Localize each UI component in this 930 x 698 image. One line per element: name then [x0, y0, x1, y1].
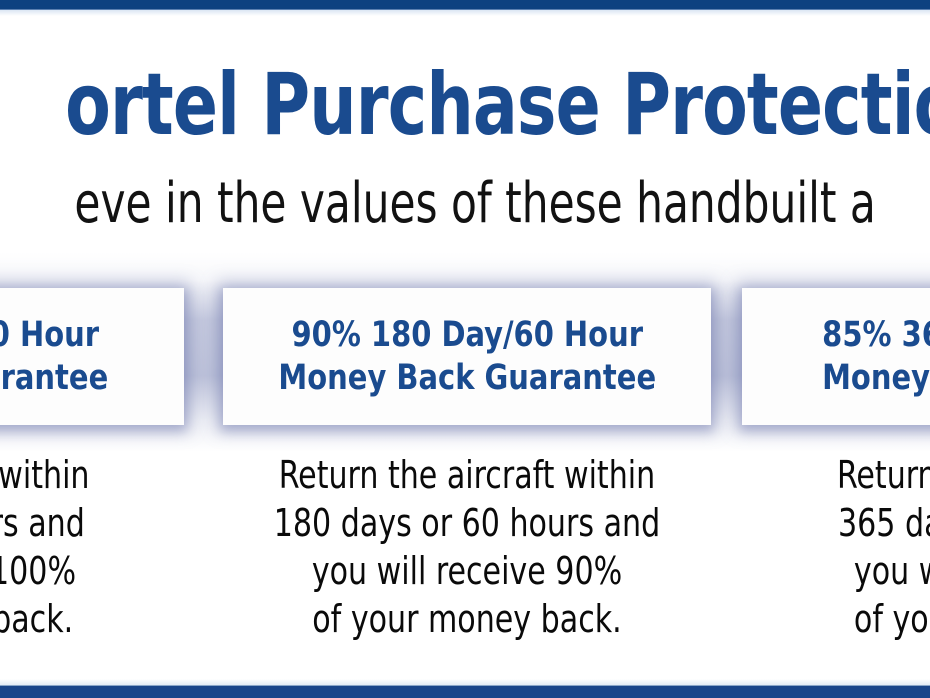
page-title: ortel Purchase Protectio [65, 62, 865, 148]
guarantee-card-2-body-line2: 180 days or 60 hours and [252, 500, 681, 548]
top-rule [0, 0, 930, 10]
guarantee-card-3-body: Return th 365 days you wil of your [762, 452, 930, 644]
guarantee-card-3-body-line4: of your [762, 596, 930, 644]
guarantee-card-1-body-line4: y back. [0, 596, 164, 644]
guarantee-card-2-body: Return the aircraft within 180 days or 6… [252, 452, 681, 644]
guarantee-card-1-body-line2: ours and [0, 500, 164, 548]
guarantee-card-1-title-line2: uarantee [0, 357, 108, 400]
guarantee-card-2-title-line1: 90% 180 Day/60 Hour [278, 314, 656, 357]
guarantee-card-1-title-line1: 30 Hour [0, 314, 108, 357]
page-subtitle: eve in the values of these handbuilt a [74, 176, 855, 232]
guarantee-card-1[interactable]: 30 Hour uarantee [0, 288, 184, 425]
guarantee-card-3-title: 85% 365 Money B [822, 314, 930, 399]
guarantee-card-2-body-line1: Return the aircraft within [252, 452, 681, 500]
guarantee-card-2-title: 90% 180 Day/60 Hour Money Back Guarantee [278, 314, 656, 399]
guarantee-card-3-body-line3: you wil [762, 548, 930, 596]
guarantee-card-3-title-line1: 85% 365 [822, 314, 930, 357]
guarantee-card-1-title: 30 Hour uarantee [0, 314, 108, 399]
bottom-rule [0, 685, 930, 698]
guarantee-card-3-title-line2: Money B [822, 357, 930, 400]
guarantee-card-3-body-line1: Return th [762, 452, 930, 500]
guarantee-card-1-body-line1: aft within [0, 452, 164, 500]
guarantee-card-2[interactable]: 90% 180 Day/60 Hour Money Back Guarantee [223, 288, 711, 425]
guarantee-bodies: aft within ours and e 100% y back. Retur… [0, 452, 930, 667]
guarantee-cards: 30 Hour uarantee 90% 180 Day/60 Hour Mon… [0, 288, 930, 428]
guarantee-card-2-body-line4: of your money back. [252, 596, 681, 644]
guarantee-card-1-body-line3: e 100% [0, 548, 164, 596]
guarantee-card-1-body: aft within ours and e 100% y back. [0, 452, 164, 644]
promo-page: ortel Purchase Protectio eve in the valu… [0, 0, 930, 698]
guarantee-card-3[interactable]: 85% 365 Money B [742, 288, 930, 425]
guarantee-card-2-body-line3: you will receive 90% [252, 548, 681, 596]
headline-block: ortel Purchase Protectio eve in the valu… [0, 16, 930, 256]
guarantee-card-2-title-line2: Money Back Guarantee [278, 357, 656, 400]
guarantee-card-3-body-line2: 365 days [762, 500, 930, 548]
